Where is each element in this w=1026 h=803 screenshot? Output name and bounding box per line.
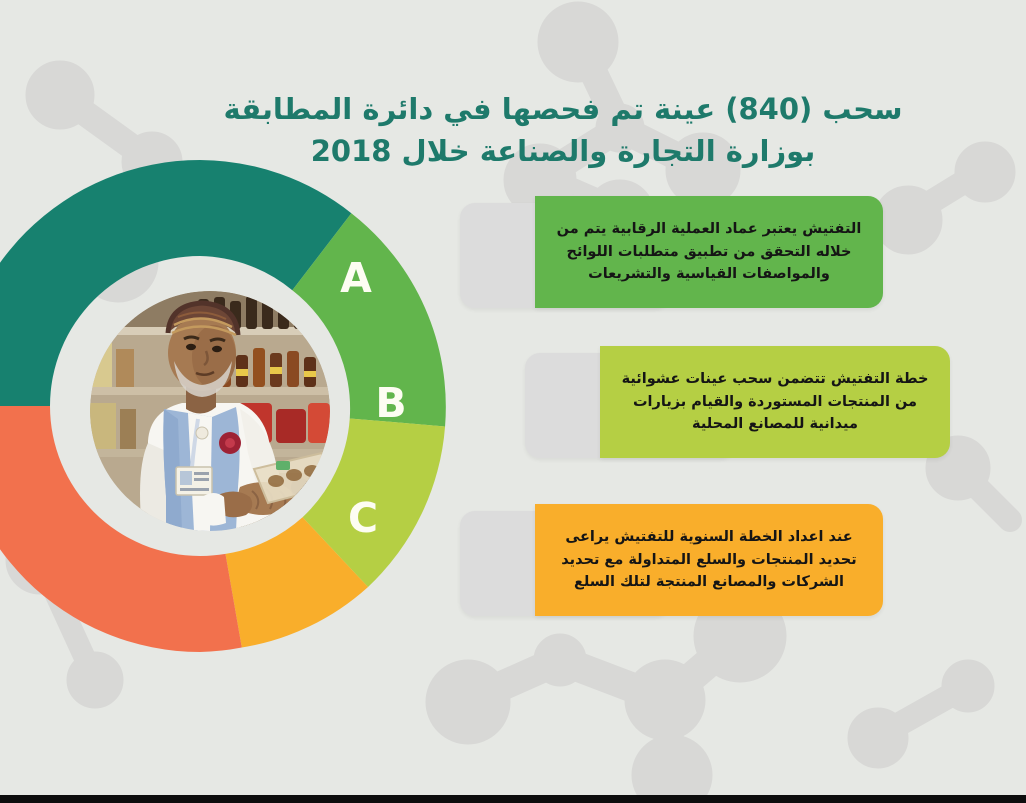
donut-label-b: B bbox=[368, 383, 414, 424]
row-3-text: عند اعداد الخطة السنوية للتفتيش يراعى تح… bbox=[535, 526, 883, 593]
donut-label-c: C bbox=[340, 498, 386, 539]
page-title-line1: سحب (840) عينة تم فحصها في دائرة المطابق… bbox=[213, 88, 913, 130]
row-2-text: خطة التفتيش تتضمن سحب عينات عشوائية من ا… bbox=[600, 368, 950, 435]
inspector-photo-illustration bbox=[90, 291, 330, 531]
inspector-photo bbox=[90, 291, 330, 531]
donut-label-a: A bbox=[333, 258, 379, 299]
row-1-card[interactable]: التفتيش يعتبر عماد العملية الرقابية يتم … bbox=[535, 196, 883, 308]
row-3-card[interactable]: عند اعداد الخطة السنوية للتفتيش يراعى تح… bbox=[535, 504, 883, 616]
bottom-bar bbox=[0, 795, 1026, 803]
row-1-text: التفتيش يعتبر عماد العملية الرقابية يتم … bbox=[535, 218, 883, 285]
infographic-canvas: سحب (840) عينة تم فحصها في دائرة المطابق… bbox=[0, 0, 1026, 803]
row-2-card[interactable]: خطة التفتيش تتضمن سحب عينات عشوائية من ا… bbox=[600, 346, 950, 458]
